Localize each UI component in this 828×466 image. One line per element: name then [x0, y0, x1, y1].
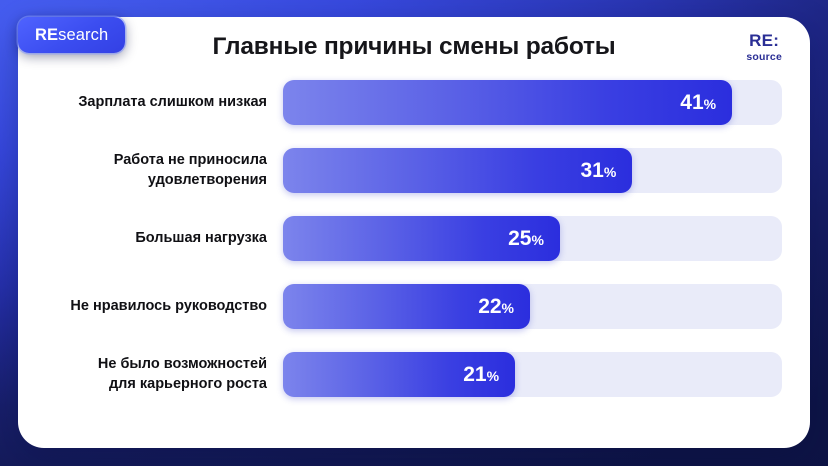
bar-track: 25%	[283, 216, 782, 261]
bar-category-label: Не нравилось руководство	[18, 297, 283, 317]
research-logo-badge: REsearch	[18, 17, 125, 53]
horizontal-bar-chart: Зарплата слишком низкая41%Работа не прин…	[18, 80, 810, 448]
bar-row: Работа не приносила удовлетворения31%	[18, 148, 810, 193]
chart-card: Главные причины смены работы RE: source …	[18, 17, 810, 448]
bar-category-label: Зарплата слишком низкая	[18, 93, 283, 113]
bar-value-label: 31%	[580, 160, 616, 181]
bar-fill: 41%	[283, 80, 732, 125]
bar-track: 31%	[283, 148, 782, 193]
bar-value-number: 25	[508, 227, 531, 250]
page-title: Главные причины смены работы	[18, 33, 810, 61]
bar-category-label: Не было возможностей для карьерного рост…	[18, 355, 283, 394]
bar-value-percent-sign: %	[604, 164, 616, 180]
brand-main-text: RE:	[746, 32, 782, 49]
bar-category-label: Большая нагрузка	[18, 229, 283, 249]
bar-row: Не нравилось руководство22%	[18, 284, 810, 329]
bar-row: Не было возможностей для карьерного рост…	[18, 352, 810, 397]
bar-value-label: 41%	[680, 92, 716, 113]
bar-value-percent-sign: %	[487, 368, 499, 384]
card-header: Главные причины смены работы RE: source	[18, 17, 810, 77]
bar-track: 21%	[283, 352, 782, 397]
bar-track: 41%	[283, 80, 782, 125]
bar-value-percent-sign: %	[704, 96, 716, 112]
bar-value-number: 41	[680, 91, 703, 114]
bar-value-percent-sign: %	[502, 300, 514, 316]
research-logo-suffix: search	[58, 26, 108, 44]
bar-fill: 22%	[283, 284, 530, 329]
research-logo-prefix: RE	[35, 26, 58, 44]
bar-fill: 25%	[283, 216, 560, 261]
bar-value-number: 21	[463, 363, 486, 386]
resource-brand-logo: RE: source	[746, 32, 782, 63]
bar-category-label: Работа не приносила удовлетворения	[18, 151, 283, 190]
bar-value-percent-sign: %	[531, 232, 543, 248]
bar-value-label: 25%	[508, 228, 544, 249]
bar-fill: 31%	[283, 148, 632, 193]
bar-value-number: 22	[478, 295, 501, 318]
bar-row: Большая нагрузка25%	[18, 216, 810, 261]
bar-row: Зарплата слишком низкая41%	[18, 80, 810, 125]
bar-value-label: 22%	[478, 296, 514, 317]
bar-track: 22%	[283, 284, 782, 329]
bar-value-label: 21%	[463, 364, 499, 385]
brand-sub-text: source	[746, 52, 782, 63]
bar-value-number: 31	[580, 159, 603, 182]
research-logo-text: REsearch	[35, 26, 108, 45]
bar-fill: 21%	[283, 352, 515, 397]
